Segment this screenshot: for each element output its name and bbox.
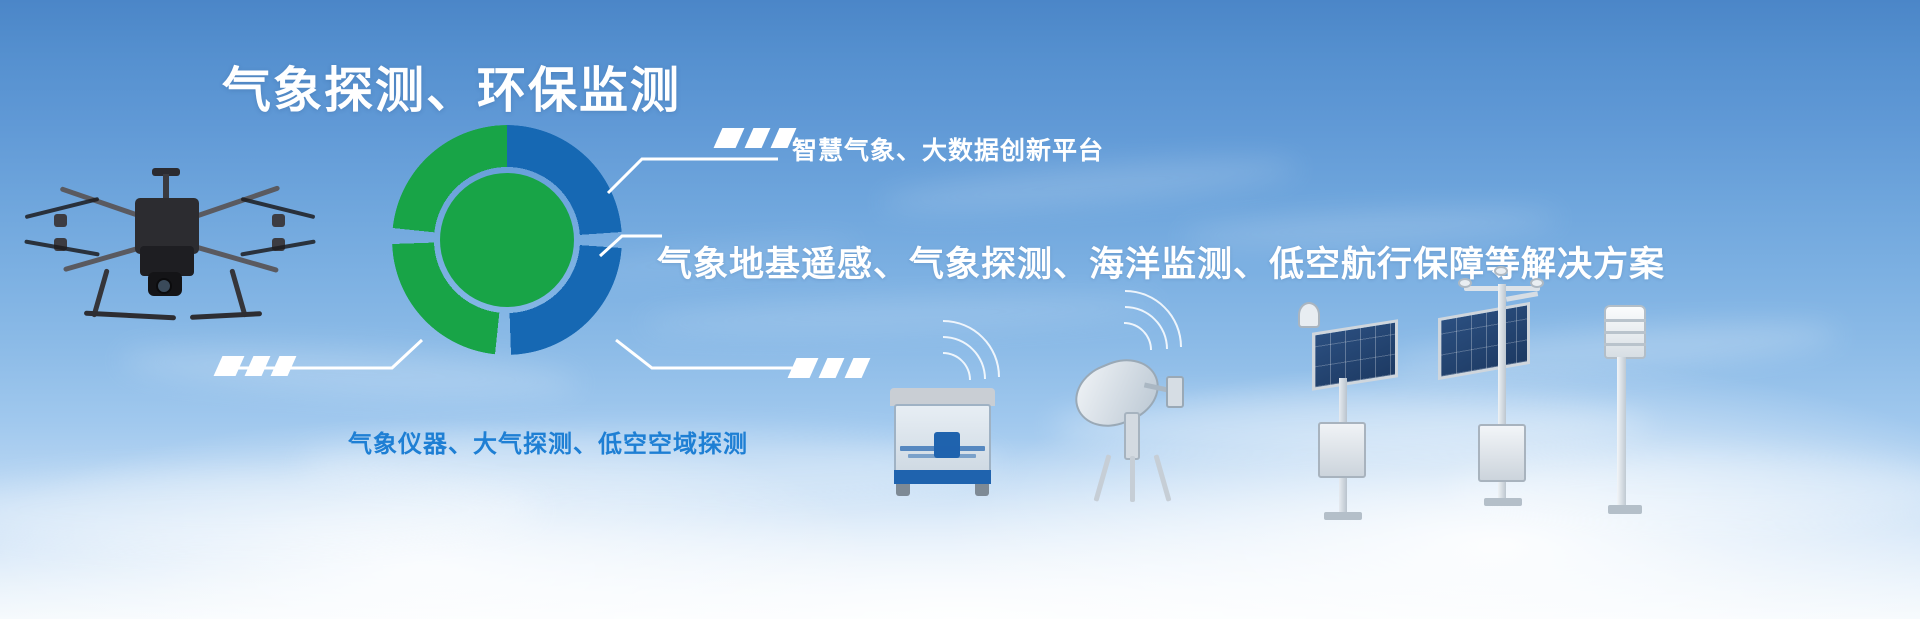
chevron-icon (788, 358, 819, 378)
drone-camera-lens (156, 278, 172, 294)
lidar-label-line (908, 454, 976, 458)
callout-bottom-label: 气象仪器、大气探测、低空空域探测 (348, 424, 748, 459)
parabolic-antenna (1070, 358, 1200, 503)
chevron-icon (819, 358, 845, 378)
antenna-mount-column (1124, 412, 1140, 460)
cloud-streak (0, 470, 540, 550)
chevron-marks-top (718, 128, 792, 148)
equipment-enclosure (1478, 424, 1526, 482)
callout-top-label: 智慧气象、大数据创新平台 (792, 131, 1104, 167)
chevron-icon (845, 358, 871, 378)
anemometer-cup (1494, 266, 1508, 276)
solar-powered-weather-station (1290, 298, 1410, 523)
wind-vane (1506, 291, 1538, 301)
lidar-blue-stripe (894, 470, 991, 484)
sensor-base (1608, 505, 1642, 514)
chevron-icon (271, 356, 297, 376)
uav-drone (40, 160, 300, 340)
lidar-foot (896, 484, 910, 496)
antenna-feed-horn (1166, 376, 1184, 408)
solar-panel (1312, 319, 1398, 391)
chevron-icon (714, 128, 745, 148)
solar-panel (1438, 302, 1530, 380)
anemometer-cup (1530, 278, 1544, 288)
sensor-louvre-ring (1604, 331, 1646, 334)
station-base (1324, 512, 1362, 520)
chevron-icon (245, 356, 271, 376)
connector-line-lower-right (612, 332, 802, 380)
lidar-foot (975, 484, 989, 496)
sensor-louvre-ring (1604, 343, 1646, 346)
tripod-leg (1130, 456, 1135, 502)
drone-motor (272, 214, 285, 227)
donut-ring-graphic (392, 125, 622, 355)
anemometer-cup (1458, 278, 1472, 288)
drone-motor (54, 214, 67, 227)
equipment-enclosure (1318, 422, 1366, 478)
sensor-column (1590, 305, 1660, 520)
chevron-icon (745, 128, 771, 148)
drone-landing-skid (190, 311, 262, 320)
drone-landing-skid (84, 311, 176, 321)
tripod-leg (1093, 454, 1111, 502)
antenna-dish (1066, 348, 1169, 438)
chevron-marks-bottom-left (218, 356, 292, 376)
station-base (1484, 498, 1522, 506)
wind-lidar-cabinet (890, 388, 995, 498)
sensor-pole (1617, 357, 1626, 507)
page-title: 气象探测、环保监测 (222, 51, 681, 122)
lidar-label-line (900, 446, 985, 451)
tripod-leg (1153, 454, 1171, 502)
chevron-icon (214, 356, 245, 376)
solar-panel-cells (1315, 323, 1395, 388)
chevron-marks-lower-right (792, 358, 866, 378)
sensor-louvre-ring (1604, 319, 1646, 322)
solar-powered-anemometer-station (1420, 272, 1570, 522)
solar-panel-cells (1441, 305, 1527, 376)
donut-core-circle (440, 173, 574, 307)
radiation-shield-sensor (1298, 302, 1320, 328)
drone-antenna-mast (163, 174, 169, 200)
drone-landing-leg (229, 268, 248, 317)
hero-banner: 气象探测、环保监测 智慧气象、大数据创新平台 气象地基遥感、气象探测、海洋监测、… (0, 0, 1920, 619)
